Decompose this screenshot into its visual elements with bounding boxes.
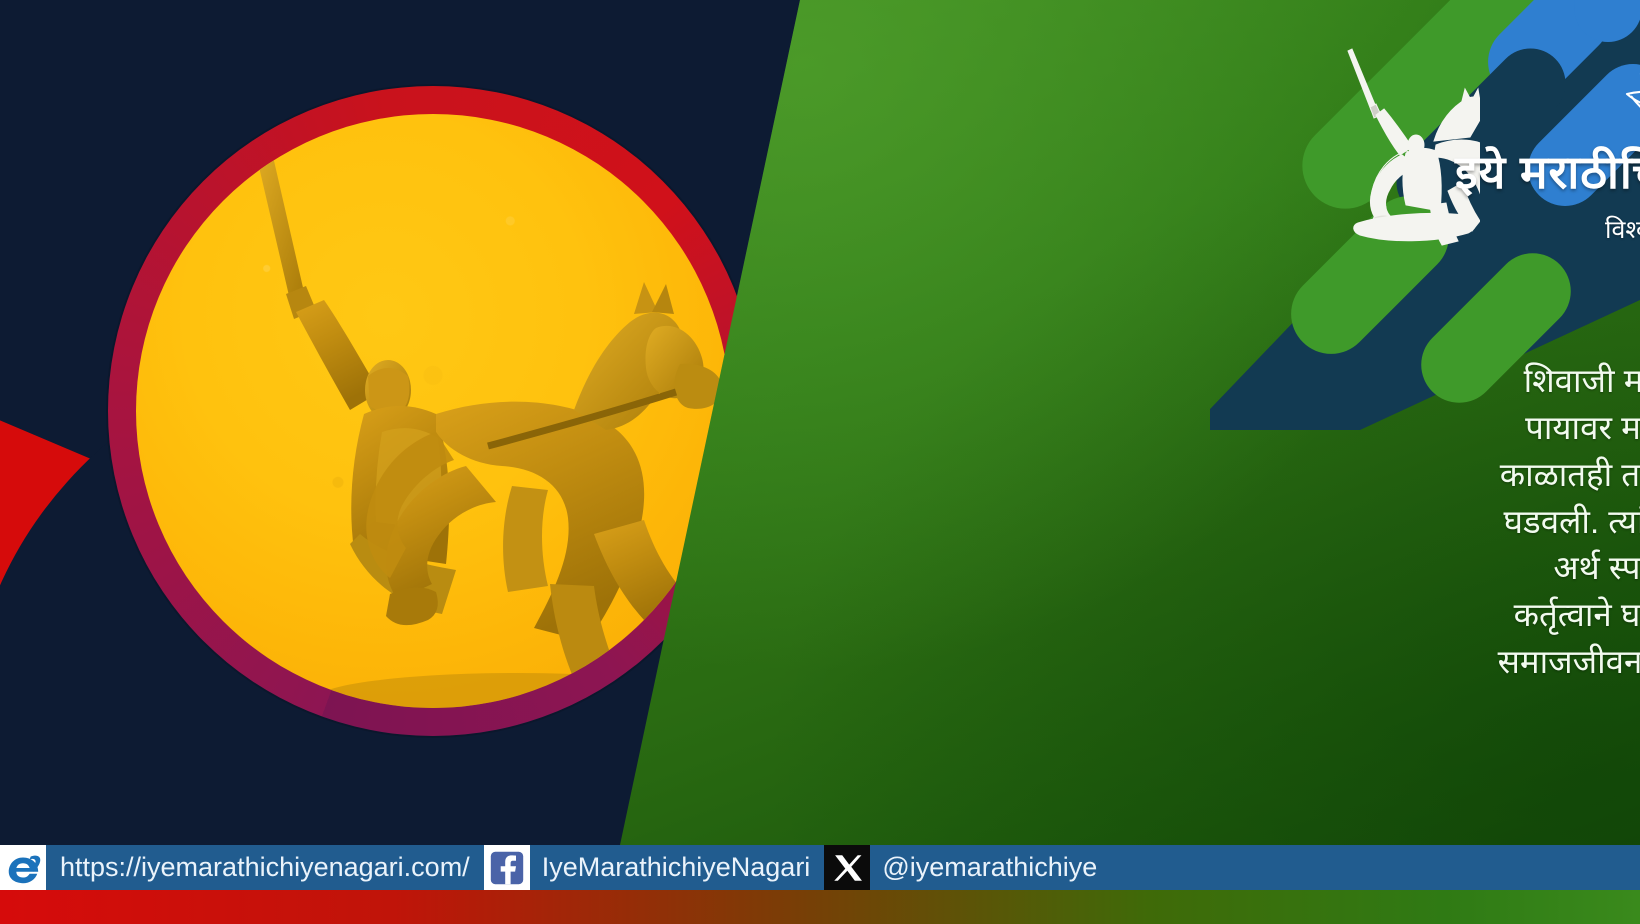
bottom-color-strip: [0, 890, 1640, 924]
footer-facebook-label: IyeMarathichiyeNagari: [530, 852, 825, 883]
body-line: शिवाजी महाराजांनी घातलेल्या स्वराज्याच्य…: [1358, 358, 1640, 405]
circular-frame-ring: [108, 86, 758, 736]
brand-subtitle: विश्वासाईता जपणारी माणसं: [1605, 212, 1640, 246]
body-line: कर्तृत्वाने घडतो. आजच्या राजकारणात आणि: [1358, 592, 1640, 639]
footer-link-website[interactable]: https://iyemarathichiyenagari.com/: [0, 845, 484, 890]
body-line: मार्गदर्शक ठरतो.: [1358, 686, 1640, 733]
footer-link-x[interactable]: @iyemarathichiye: [824, 845, 1111, 890]
footer-website-label: https://iyemarathichiyenagari.com/: [46, 852, 484, 883]
poster-canvas: इये मराठीचिये नगरी विश्वासाईता जपणारी मा…: [0, 0, 1640, 924]
facebook-icon: [484, 845, 530, 890]
body-line: घडवली. त्यांच्या या विचारातून राजेपणाचा …: [1358, 499, 1640, 546]
body-line: काळातही ताठ उभे राहून नेतृत्वाची नवी व्य…: [1358, 452, 1640, 499]
footer-link-facebook[interactable]: IyeMarathichiyeNagari: [484, 845, 825, 890]
body-paragraph: शिवाजी महाराजांनी घातलेल्या स्वराज्याच्य…: [1358, 358, 1640, 733]
footer-bar: https://iyemarathichiyenagari.com/ IyeMa…: [0, 845, 1640, 890]
right-content-pane: इये मराठीचिये नगरी विश्वासाईता जपणारी मा…: [620, 0, 1640, 845]
footer-x-label: @iyemarathichiye: [870, 852, 1111, 883]
body-line: अर्थ स्पष्ट होतो−राजा जन्माने नव्हे, तर: [1358, 545, 1640, 592]
circular-gold-disc: [136, 114, 730, 708]
body-line: समाजजीवनातही हा स्वाभिमानी संदेश तितकाच: [1358, 639, 1640, 686]
brand-title: इये मराठीचिये नगरी: [1455, 140, 1640, 202]
page-headline: स्वराज्याचे तत्त्वज्ञान..!!!: [1260, 292, 1640, 352]
internet-explorer-icon: [0, 845, 46, 890]
x-twitter-icon: [824, 845, 870, 890]
body-line: पायावर महाराणी ताराराणी यांनी संकटाच्या: [1358, 405, 1640, 452]
lotus-outline-icon: [1615, 30, 1640, 140]
equestrian-statue-illustration: [136, 114, 730, 708]
